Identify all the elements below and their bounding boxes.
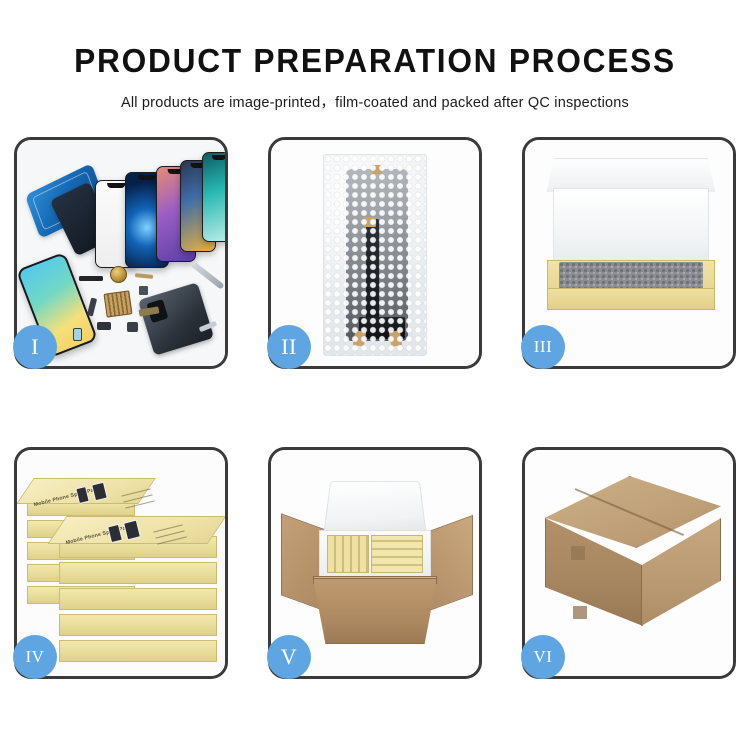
foam-lid-graphic xyxy=(323,481,426,535)
process-steps-grid: I II xyxy=(14,137,736,679)
notch-icon xyxy=(107,183,125,188)
packed-boxes-row-b xyxy=(371,535,423,573)
spare-part-graphic xyxy=(73,328,82,341)
box-lid-back-graphic xyxy=(547,158,715,192)
step-badge-2: II xyxy=(267,325,311,369)
phone-screen-graphic-e xyxy=(202,152,225,242)
yellow-box-front-graphic xyxy=(547,288,715,310)
step-badge-5: V xyxy=(267,635,311,679)
process-step-panel-1: I xyxy=(14,137,228,369)
stacked-box-graphic xyxy=(59,562,217,584)
box-stack-graphic: Mobile Phone Spare Parts Mobile Phone Sp… xyxy=(25,472,221,662)
vibration-motor-graphic xyxy=(110,266,127,283)
process-step-panel-5: V xyxy=(268,447,482,679)
spare-part-graphic xyxy=(127,322,138,332)
page-title: PRODUCT PREPARATION PROCESS xyxy=(15,44,735,79)
header: PRODUCT PREPARATION PROCESS All products… xyxy=(0,0,750,112)
spare-part-graphic xyxy=(135,273,153,279)
gray-foam-insert-graphic xyxy=(559,262,703,290)
spare-part-graphic xyxy=(87,298,97,317)
connector-grid-graphic xyxy=(103,290,132,317)
bubble-texture-overlay xyxy=(324,155,426,355)
page-subtitle: All products are image-printed，film-coat… xyxy=(0,91,750,112)
stacked-box-graphic xyxy=(59,614,217,636)
box-lid-graphic xyxy=(553,188,709,262)
packed-boxes-row-a xyxy=(327,535,369,573)
spare-part-graphic xyxy=(139,286,148,295)
process-step-panel-4: Mobile Phone Spare Parts Mobile Phone Sp… xyxy=(14,447,228,679)
bubble-wrap-bag-graphic xyxy=(323,154,427,356)
spare-part-graphic xyxy=(97,322,111,330)
step-badge-6: VI xyxy=(521,635,565,679)
step-badge-4: IV xyxy=(13,635,57,679)
notch-icon xyxy=(138,175,156,180)
carton-tape-patch-graphic xyxy=(571,546,585,560)
phone-backplate-graphic xyxy=(138,282,214,356)
process-step-panel-6: VI xyxy=(522,447,736,679)
notch-icon xyxy=(212,155,225,160)
process-step-panel-2: II xyxy=(268,137,482,369)
carton-tape-patch-graphic xyxy=(573,606,587,619)
spare-part-graphic xyxy=(79,276,103,281)
carton-front-graphic xyxy=(313,578,437,644)
process-step-panel-3: III xyxy=(522,137,736,369)
product-preparation-infographic: PRODUCT PREPARATION PROCESS All products… xyxy=(0,0,750,750)
packed-boxes-graphic xyxy=(327,535,423,573)
stacked-box-graphic xyxy=(59,640,217,662)
step-badge-3: III xyxy=(521,325,565,369)
stacked-box-graphic xyxy=(59,588,217,610)
step-badge-1: I xyxy=(13,325,57,369)
